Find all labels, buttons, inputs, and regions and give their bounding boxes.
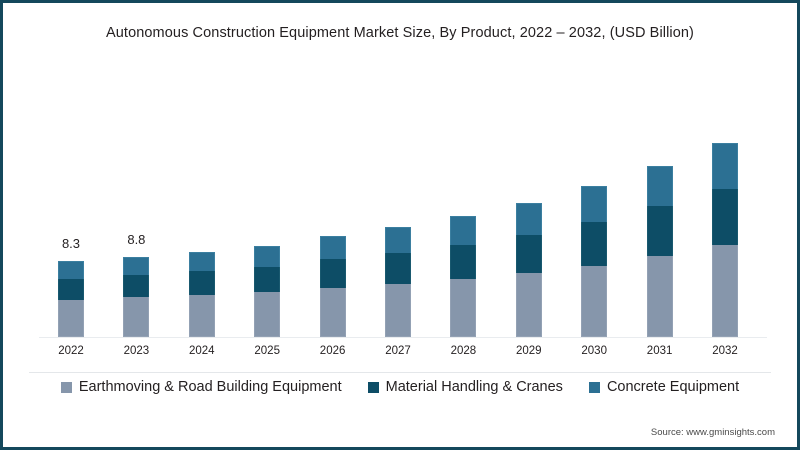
- bar-group-2026[interactable]: [320, 236, 346, 337]
- stacked-bar[interactable]: [189, 252, 215, 337]
- bar-segment-material-handling-2030[interactable]: [581, 222, 607, 266]
- bar-group-2025[interactable]: [254, 246, 280, 337]
- source-note: Source: www.gminsights.com: [651, 427, 775, 438]
- legend-label-earthmoving: Earthmoving & Road Building Equipment: [79, 379, 342, 395]
- bar-segment-earthmoving-2032[interactable]: [712, 245, 738, 337]
- bar-segment-material-handling-2027[interactable]: [385, 253, 411, 284]
- bar-segment-concrete-2032[interactable]: [712, 143, 738, 189]
- bar-segment-earthmoving-2028[interactable]: [450, 279, 476, 337]
- chart-card: Autonomous Construction Equipment Market…: [0, 0, 800, 450]
- stacked-bar[interactable]: [712, 143, 738, 337]
- legend-item-earthmoving[interactable]: Earthmoving & Road Building Equipment: [61, 379, 342, 395]
- bar-group-2023[interactable]: 8.8: [123, 257, 149, 337]
- bar-segment-earthmoving-2025[interactable]: [254, 292, 280, 337]
- bar-segment-material-handling-2032[interactable]: [712, 189, 738, 245]
- x-axis-tick-2032: 2032: [700, 345, 750, 357]
- bar-segment-concrete-2025[interactable]: [254, 246, 280, 267]
- x-axis-labels: 2022202320242025202620272028202920302031…: [31, 341, 771, 363]
- x-axis-tick-2025: 2025: [242, 345, 292, 357]
- chart-legend: Earthmoving & Road Building Equipment Ma…: [3, 379, 797, 395]
- bar-segment-earthmoving-2027[interactable]: [385, 284, 411, 337]
- legend-swatch-concrete: [589, 382, 600, 393]
- bar-segment-material-handling-2025[interactable]: [254, 267, 280, 293]
- bar-segment-earthmoving-2030[interactable]: [581, 266, 607, 337]
- bar-segment-concrete-2023[interactable]: [123, 257, 149, 275]
- bar-segment-concrete-2028[interactable]: [450, 216, 476, 244]
- bar-segment-material-handling-2022[interactable]: [58, 279, 84, 300]
- bar-group-2032[interactable]: [712, 143, 738, 337]
- bar-segment-material-handling-2029[interactable]: [516, 235, 542, 273]
- legend-item-concrete[interactable]: Concrete Equipment: [589, 379, 739, 395]
- stacked-bar[interactable]: [450, 216, 476, 337]
- bar-segment-earthmoving-2022[interactable]: [58, 300, 84, 337]
- bar-group-2031[interactable]: [647, 166, 673, 337]
- bar-segment-concrete-2024[interactable]: [189, 252, 215, 272]
- stacked-bar[interactable]: [123, 257, 149, 337]
- x-axis-tick-2030: 2030: [569, 345, 619, 357]
- x-axis-line: [39, 337, 767, 338]
- chart-title: Autonomous Construction Equipment Market…: [3, 25, 797, 41]
- bar-group-2028[interactable]: [450, 216, 476, 337]
- bar-segment-earthmoving-2026[interactable]: [320, 288, 346, 337]
- bar-segment-earthmoving-2024[interactable]: [189, 295, 215, 337]
- bar-value-label-2022: 8.3: [46, 236, 96, 251]
- bar-segment-concrete-2031[interactable]: [647, 166, 673, 206]
- x-axis-tick-2022: 2022: [46, 345, 96, 357]
- bar-segment-earthmoving-2029[interactable]: [516, 273, 542, 337]
- legend-swatch-earthmoving: [61, 382, 72, 393]
- bar-segment-material-handling-2023[interactable]: [123, 275, 149, 297]
- bar-segment-concrete-2022[interactable]: [58, 261, 84, 278]
- bar-segment-concrete-2027[interactable]: [385, 227, 411, 253]
- x-axis-tick-2029: 2029: [504, 345, 554, 357]
- legend-item-material-handling[interactable]: Material Handling & Cranes: [368, 379, 563, 395]
- bar-segment-earthmoving-2023[interactable]: [123, 297, 149, 337]
- bar-segment-material-handling-2026[interactable]: [320, 259, 346, 287]
- bar-segment-material-handling-2024[interactable]: [189, 271, 215, 295]
- stacked-bar[interactable]: [385, 227, 411, 337]
- stacked-bar[interactable]: [516, 203, 542, 337]
- x-axis-tick-2027: 2027: [373, 345, 423, 357]
- legend-swatch-material-handling: [368, 382, 379, 393]
- bar-group-2022[interactable]: 8.3: [58, 261, 84, 337]
- bar-group-2029[interactable]: [516, 203, 542, 337]
- stacked-bar[interactable]: [58, 261, 84, 337]
- bar-group-2024[interactable]: [189, 252, 215, 337]
- bar-segment-material-handling-2031[interactable]: [647, 206, 673, 255]
- bar-segment-concrete-2029[interactable]: [516, 203, 542, 235]
- legend-label-concrete: Concrete Equipment: [607, 379, 739, 395]
- stacked-bar[interactable]: [254, 246, 280, 337]
- bar-group-2030[interactable]: [581, 186, 607, 337]
- stacked-bar[interactable]: [320, 236, 346, 337]
- legend-divider: [29, 372, 771, 373]
- x-axis-tick-2028: 2028: [438, 345, 488, 357]
- stacked-bar[interactable]: [647, 166, 673, 337]
- bar-segment-concrete-2030[interactable]: [581, 186, 607, 222]
- x-axis-tick-2031: 2031: [635, 345, 685, 357]
- x-axis-tick-2026: 2026: [308, 345, 358, 357]
- plot-area: 8.38.8: [31, 63, 771, 338]
- chart-canvas: Autonomous Construction Equipment Market…: [3, 3, 797, 447]
- stacked-bar[interactable]: [581, 186, 607, 337]
- legend-label-material-handling: Material Handling & Cranes: [386, 379, 563, 395]
- bar-segment-concrete-2026[interactable]: [320, 236, 346, 260]
- bar-value-label-2023: 8.8: [111, 232, 161, 247]
- x-axis-tick-2024: 2024: [177, 345, 227, 357]
- bar-group-2027[interactable]: [385, 227, 411, 337]
- bar-segment-material-handling-2028[interactable]: [450, 245, 476, 280]
- x-axis-tick-2023: 2023: [111, 345, 161, 357]
- bar-segment-earthmoving-2031[interactable]: [647, 256, 673, 337]
